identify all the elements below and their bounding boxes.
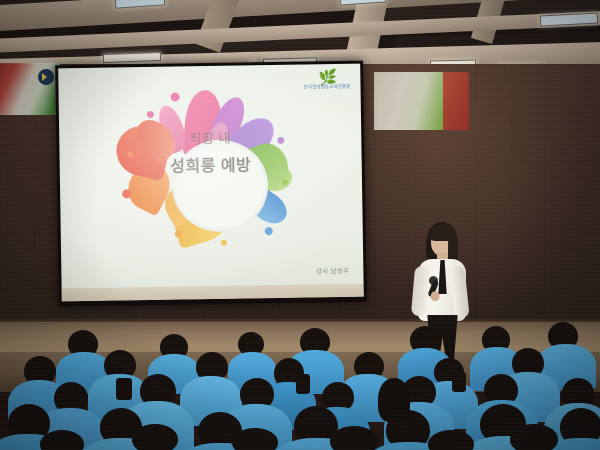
decorative-banner-left xyxy=(0,63,60,115)
seat-back xyxy=(296,374,310,394)
projection-screen-frame: 직장 내 성희롱 예방 🌿 한국양성평등교육진흥원 강사 남성우 xyxy=(55,61,367,307)
banner-emblem-icon xyxy=(38,69,54,85)
screen-projection-glow xyxy=(58,64,364,302)
seat-back xyxy=(116,378,132,400)
photograph-auditorium-scene: 직장 내 성희롱 예방 🌿 한국양성평등교육진흥원 강사 남성우 xyxy=(0,0,600,450)
seat-back xyxy=(452,372,466,392)
decorative-banner-right-edge xyxy=(443,72,469,130)
projection-screen-surface: 직장 내 성희롱 예방 🌿 한국양성평등교육진흥원 강사 남성우 xyxy=(58,64,364,302)
seated-audience xyxy=(0,312,600,450)
